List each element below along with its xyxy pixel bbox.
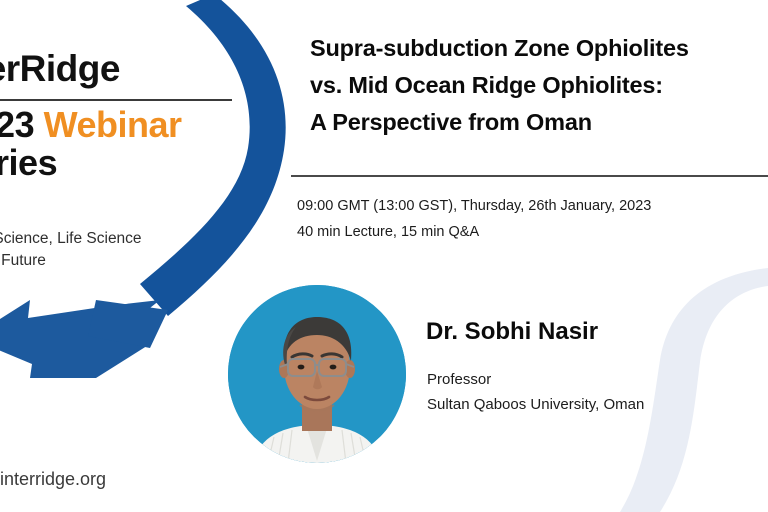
speaker-name: Dr. Sobhi Nasir bbox=[426, 318, 598, 346]
series-heading: 2023 Webinar bbox=[0, 104, 181, 146]
schedule-duration: 40 min Lecture, 15 min Q&A bbox=[297, 219, 651, 245]
speaker-avatar bbox=[228, 285, 406, 463]
speaker-title: Professor bbox=[427, 367, 644, 392]
talk-title-line-1: Supra-subduction Zone Ophiolites bbox=[310, 30, 768, 67]
series-subheading: Series bbox=[0, 142, 57, 184]
tagline-line-1: Earth Science, Life Science bbox=[0, 228, 142, 250]
talk-title: Supra-subduction Zone Ophiolites vs. Mid… bbox=[310, 30, 768, 141]
tagline-line-2: for our Future bbox=[0, 250, 142, 272]
speaker-affiliation: Sultan Qaboos University, Oman bbox=[427, 392, 644, 417]
talk-title-line-2: vs. Mid Ocean Ridge Ophiolites: bbox=[310, 67, 768, 104]
brand-block: InterRidge 2023 Webinar Series Earth Sci… bbox=[0, 0, 250, 512]
speaker-details: Professor Sultan Qaboos University, Oman bbox=[427, 367, 644, 417]
organization-name: InterRidge bbox=[0, 48, 120, 90]
schedule-block: 09:00 GMT (13:00 GST), Thursday, 26th Ja… bbox=[297, 193, 651, 245]
title-divider bbox=[291, 175, 768, 177]
webinar-announcement-poster: InterRidge 2023 Webinar Series Earth Sci… bbox=[0, 0, 768, 512]
talk-title-line-3: A Perspective from Oman bbox=[310, 104, 768, 141]
speaker-portrait bbox=[228, 285, 406, 463]
brand-tagline: Earth Science, Life Science for our Futu… bbox=[0, 228, 142, 272]
series-word: Webinar bbox=[44, 104, 182, 145]
series-year: 2023 bbox=[0, 104, 34, 145]
website-url[interactable]: interridge.org bbox=[0, 469, 106, 490]
schedule-datetime: 09:00 GMT (13:00 GST), Thursday, 26th Ja… bbox=[297, 193, 651, 219]
brand-divider bbox=[0, 99, 232, 101]
